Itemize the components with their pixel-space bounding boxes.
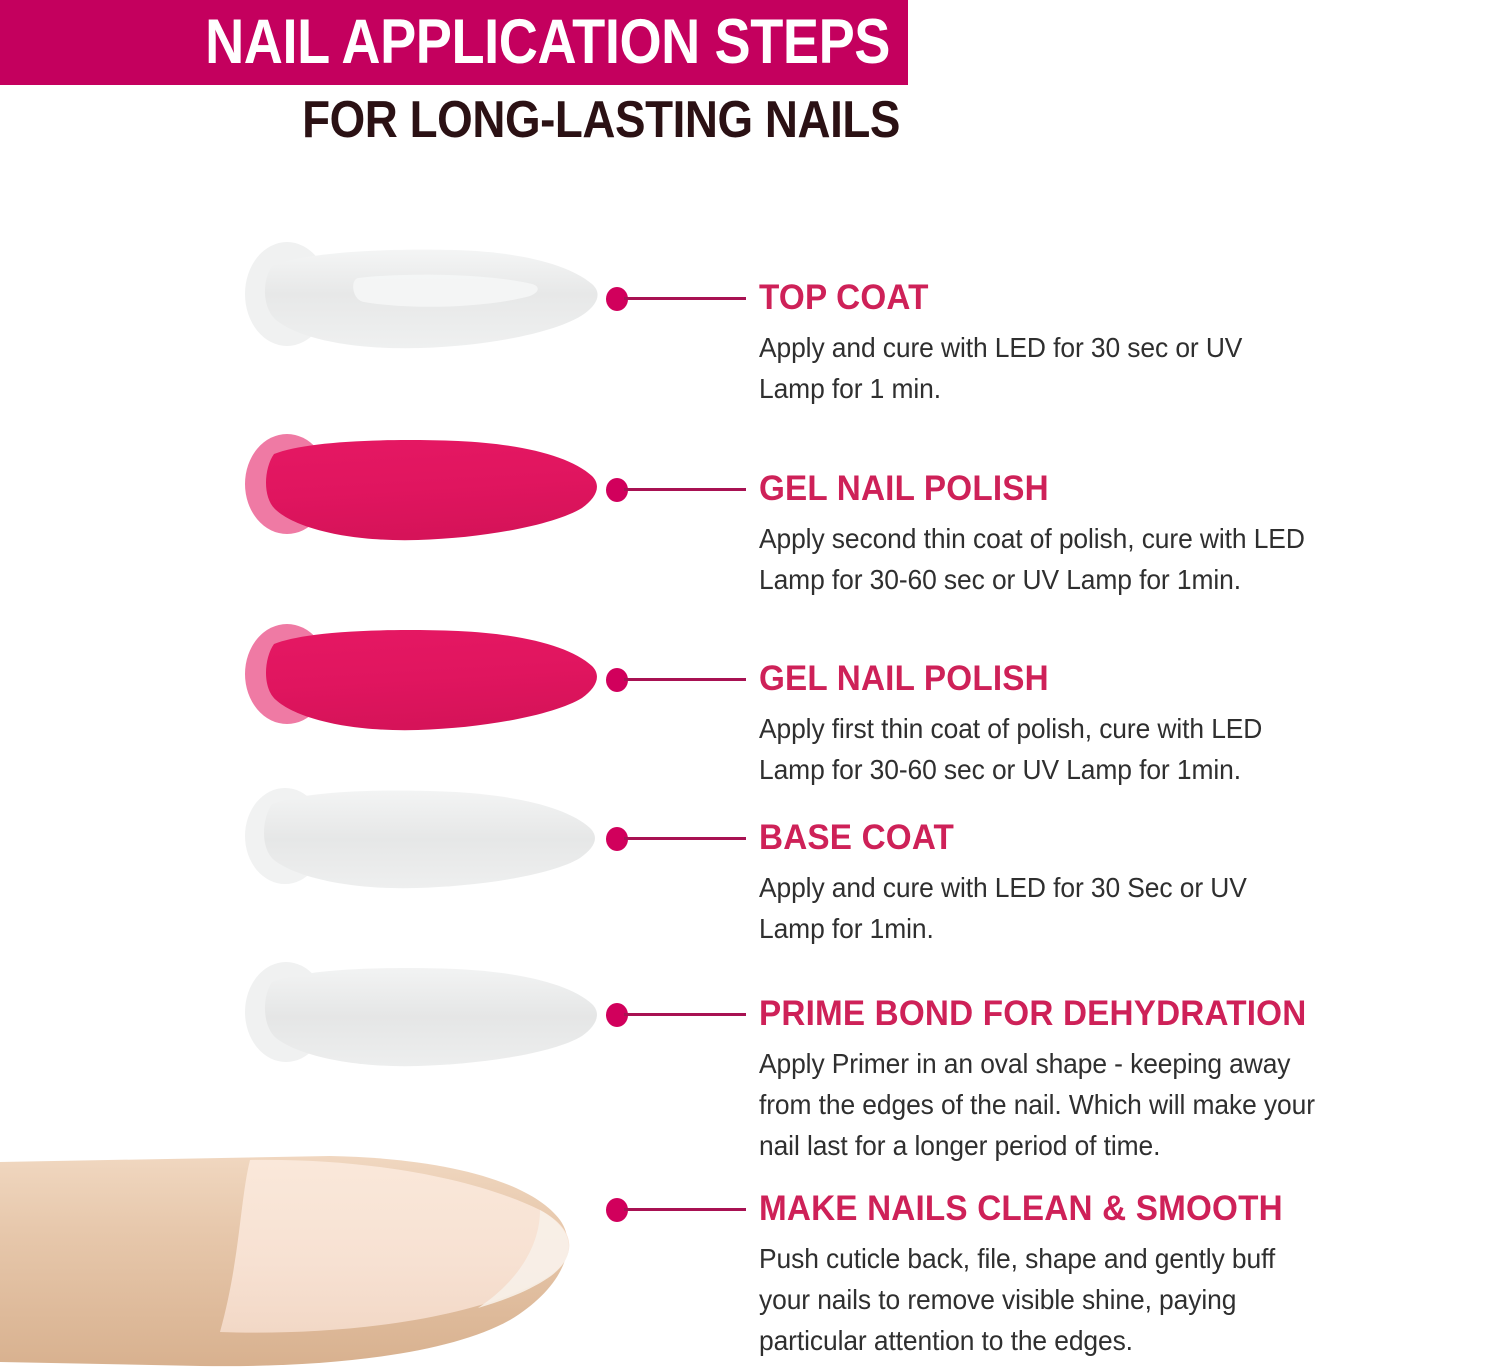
step-description: Apply and cure with LED for 30 Sec or UV…: [759, 867, 1354, 949]
step-title: GEL NAIL POLISH: [759, 469, 1049, 509]
step-connector-line: [624, 837, 746, 840]
step-title: TOP COAT: [759, 278, 929, 318]
step-connector-line: [624, 488, 746, 491]
step-description: Apply second thin coat of polish, cure w…: [759, 518, 1373, 600]
infographic-root: NAIL APPLICATION STEPS FOR LONG-LASTING …: [0, 0, 1500, 1369]
nail-layer-base-coat: [240, 778, 610, 898]
header-pink-bar: NAIL APPLICATION STEPS: [0, 0, 908, 85]
finger-with-bare-nail: [0, 1140, 620, 1369]
page-subtitle: FOR LONG-LASTING NAILS: [108, 90, 900, 150]
step-description: Apply Primer in an oval shape - keeping …: [759, 1043, 1373, 1166]
step-connector-line: [624, 1013, 746, 1016]
nail-layer-top-coat: [240, 232, 610, 357]
step-description: Apply first thin coat of polish, cure wi…: [759, 708, 1373, 790]
step-title: MAKE NAILS CLEAN & SMOOTH: [759, 1189, 1283, 1229]
step-description: Apply and cure with LED for 30 sec or UV…: [759, 327, 1354, 409]
nail-layer-primer: [240, 952, 610, 1077]
step-title: BASE COAT: [759, 818, 954, 858]
nail-layer-gel-polish-first: [240, 614, 610, 739]
nail-layer-gel-polish-second: [240, 424, 610, 549]
page-title: NAIL APPLICATION STEPS: [125, 0, 890, 85]
step-description: Push cuticle back, file, shape and gentl…: [759, 1238, 1373, 1361]
step-connector-line: [624, 1208, 746, 1211]
step-title: PRIME BOND FOR DEHYDRATION: [759, 994, 1306, 1034]
step-title: GEL NAIL POLISH: [759, 659, 1049, 699]
step-connector-line: [624, 678, 746, 681]
step-connector-line: [624, 297, 746, 300]
